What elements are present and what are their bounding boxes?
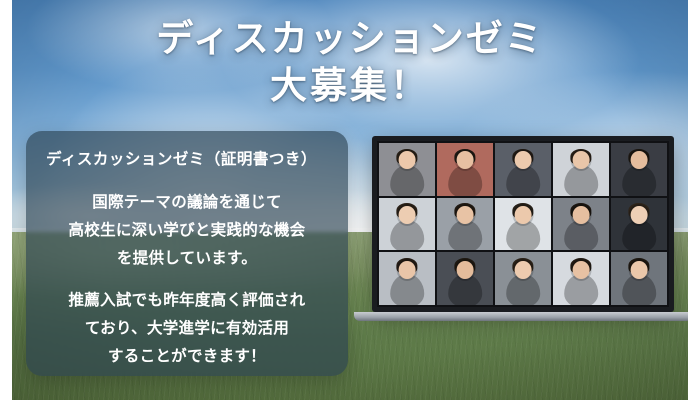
- participant-body: [622, 165, 656, 196]
- laptop-screen: [377, 141, 669, 307]
- participant-face: [573, 206, 590, 224]
- video-tile[interactable]: [611, 198, 667, 251]
- info-card-title: ディスカッションゼミ（証明書つき）: [40, 147, 334, 169]
- participant-face: [515, 151, 532, 169]
- participant-body: [448, 274, 482, 305]
- video-tile[interactable]: [495, 143, 551, 196]
- page-edge-left: [0, 0, 12, 400]
- info-paragraph-1-line-3: を提供しています。: [117, 250, 257, 267]
- laptop-base: [354, 312, 692, 321]
- participant-face: [457, 206, 474, 224]
- participant-face: [631, 261, 648, 279]
- video-tile[interactable]: [553, 198, 609, 251]
- participant-body: [622, 274, 656, 305]
- participant-face: [573, 261, 590, 279]
- poster-canvas: ディスカッションゼミ 大募集！ ディスカッションゼミ（証明書つき） 国際テーマの…: [0, 0, 700, 400]
- participant-body: [390, 220, 424, 251]
- participant-body: [564, 220, 598, 251]
- video-tile[interactable]: [553, 143, 609, 196]
- laptop-device: [372, 136, 674, 312]
- video-tile[interactable]: [437, 143, 493, 196]
- video-call-grid: [377, 141, 669, 307]
- video-tile[interactable]: [379, 198, 435, 251]
- info-paragraph-1: 国際テーマの議論を通じて 高校生に深い学びと実践的な機会 を提供しています。: [40, 189, 334, 273]
- video-tile[interactable]: [437, 198, 493, 251]
- info-paragraph-2-line-2: ており、大学進学に有効活用: [85, 320, 289, 337]
- info-paragraph-2-line-1: 推薦入試でも昨年度高く評価され: [68, 292, 305, 309]
- participant-face: [631, 206, 648, 224]
- info-paragraph-1-line-1: 国際テーマの議論を通じて: [92, 194, 282, 211]
- participant-body: [506, 274, 540, 305]
- participant-body: [448, 220, 482, 251]
- participant-face: [457, 261, 474, 279]
- video-tile[interactable]: [379, 252, 435, 305]
- video-tile[interactable]: [379, 143, 435, 196]
- video-tile[interactable]: [495, 252, 551, 305]
- info-paragraph-2-line-3: することができます！: [108, 348, 266, 365]
- participant-face: [399, 151, 416, 169]
- participant-body: [506, 220, 540, 251]
- participant-face: [573, 151, 590, 169]
- info-card: ディスカッションゼミ（証明書つき） 国際テーマの議論を通じて 高校生に深い学びと…: [26, 131, 348, 376]
- info-card-body: 国際テーマの議論を通じて 高校生に深い学びと実践的な機会 を提供しています。 推…: [40, 189, 334, 371]
- participant-body: [564, 165, 598, 196]
- page-edge-right: [688, 0, 700, 400]
- video-tile[interactable]: [553, 252, 609, 305]
- video-tile[interactable]: [437, 252, 493, 305]
- participant-body: [448, 165, 482, 196]
- participant-face: [399, 261, 416, 279]
- video-tile[interactable]: [611, 252, 667, 305]
- participant-face: [515, 261, 532, 279]
- video-tile[interactable]: [495, 198, 551, 251]
- participant-body: [506, 165, 540, 196]
- laptop-bezel: [372, 136, 674, 312]
- participant-face: [457, 151, 474, 169]
- participant-face: [631, 151, 648, 169]
- video-tile[interactable]: [611, 143, 667, 196]
- participant-body: [622, 220, 656, 251]
- participant-body: [564, 274, 598, 305]
- participant-face: [399, 206, 416, 224]
- info-paragraph-2: 推薦入試でも昨年度高く評価され ており、大学進学に有効活用 することができます！: [40, 287, 334, 371]
- info-paragraph-1-line-2: 高校生に深い学びと実践的な機会: [68, 222, 305, 239]
- participant-body: [390, 165, 424, 196]
- participant-face: [515, 206, 532, 224]
- participant-body: [390, 274, 424, 305]
